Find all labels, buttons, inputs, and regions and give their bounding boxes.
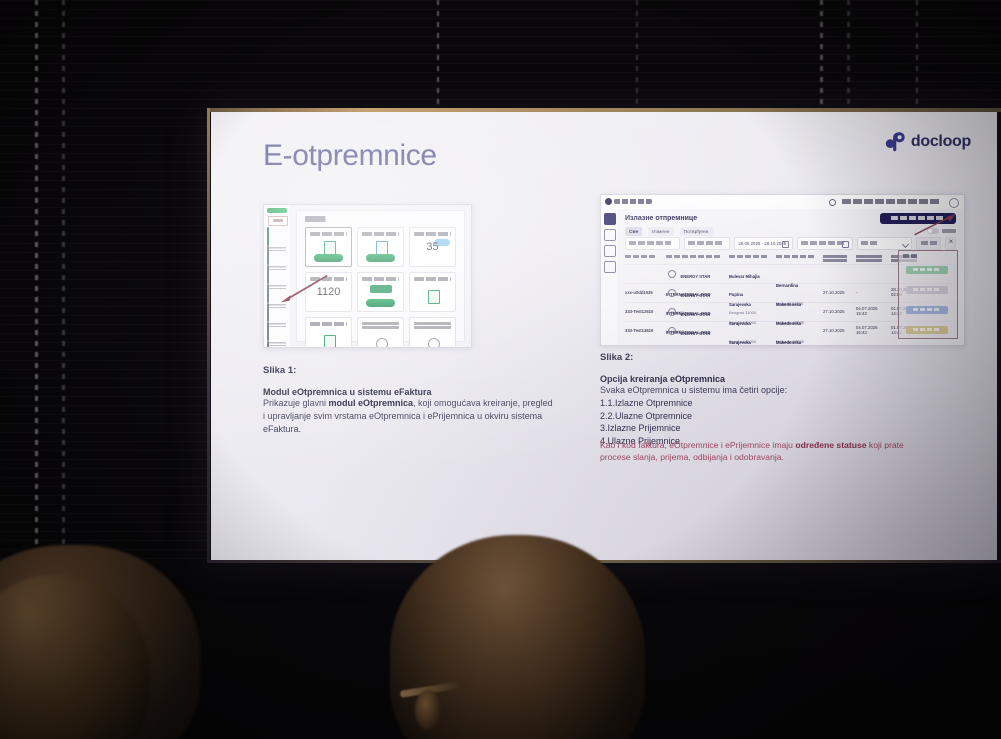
company-selector[interactable] <box>842 199 940 204</box>
left-icon-rail[interactable] <box>601 209 618 345</box>
lock-document-icon <box>324 335 336 348</box>
docloop-logo: docloop <box>885 130 971 153</box>
create-document-button[interactable] <box>314 254 343 262</box>
status-column-highlight <box>898 250 958 339</box>
caption-right-heading: Opcija kreiranja eOtpremnica <box>600 374 920 384</box>
caption-left: Slika 1: Modul eOtpremnica u sistemu eFa… <box>263 365 553 435</box>
clock-icon <box>668 289 676 297</box>
sidebar-item-pojedinacna-korekcija[interactable] <box>267 342 287 348</box>
figure-label-1: Slika 1: <box>263 365 553 376</box>
rail-icon-ulazne-otpremnice[interactable] <box>604 229 616 241</box>
cell-planned-date: 04.07.2025 15:43 <box>856 344 888 346</box>
cell-address-from: Sarajevska Beograd 11000 <box>729 331 773 346</box>
cell-planned-date: 04.07.2025 15:43 <box>856 325 888 335</box>
cell-planned-date: - <box>856 290 888 295</box>
card-value-total: 35 <box>410 241 455 253</box>
status-badge <box>906 286 948 294</box>
caption-left-body: Prikazuje glavni modul eOtpremnica, koji… <box>263 397 553 435</box>
filter-bar[interactable]: 28.05.2025 - 28.10.2025 <box>625 238 956 249</box>
table-page-title: Излазне отпремнице <box>625 215 697 222</box>
annotation-arrow-left <box>279 272 329 306</box>
status-badge <box>906 266 948 274</box>
greeting-text <box>305 216 339 222</box>
rail-icon-ulazne-prijemnice[interactable] <box>604 261 616 273</box>
refresh-icon <box>376 338 388 348</box>
presentation-screen: E-otpremnice docloop <box>207 108 1001 563</box>
card-pojedinacna-evidencija-pdv[interactable] <box>409 272 456 312</box>
col-status <box>903 254 919 258</box>
rail-icon-izlazne-otpremnice[interactable] <box>604 213 616 225</box>
sidebar-item-dokumenti[interactable] <box>267 228 287 243</box>
light-strip <box>62 0 65 560</box>
card-ukupno-dokumenata[interactable]: 35 <box>409 227 456 267</box>
clear-filters-button[interactable] <box>945 237 956 250</box>
document-icon <box>376 241 388 255</box>
rail-icon-izlazne-prijemnice[interactable] <box>604 245 616 257</box>
document-plus-icon <box>324 241 336 255</box>
app-topbar <box>601 195 964 210</box>
nef-badge <box>268 216 288 226</box>
annotation-arrow-right <box>911 212 957 238</box>
col-adresa-otpreme <box>729 254 773 262</box>
tab-potvrdjene[interactable]: Потврђене <box>680 227 713 236</box>
cell-code: 333-Test13610 <box>625 328 663 333</box>
status-select[interactable] <box>857 237 912 250</box>
cell-issue-date: 27.10.2025 <box>823 290 853 295</box>
col-planirani-datum[interactable] <box>856 254 888 262</box>
logo-text: docloop <box>911 133 971 151</box>
apply-filters-button[interactable] <box>916 237 940 250</box>
list-item: 2.2.Ulazne Otpremnice <box>600 410 920 423</box>
refresh-icon <box>267 341 269 348</box>
sidebar-item-prodaja[interactable] <box>267 247 287 262</box>
clock-icon <box>668 308 676 316</box>
card-izlazni-dokumenti[interactable] <box>305 227 352 267</box>
search-input[interactable] <box>625 237 680 250</box>
cell-actual-date: 01.07.2025 14:42 <box>891 344 923 346</box>
card-ulazni-dokumenti[interactable] <box>357 227 404 267</box>
screen-bezel-bottom <box>207 560 1001 563</box>
sidebar-item-korekcija-zbirne[interactable] <box>267 323 287 338</box>
figure-label-2: Slika 2: <box>600 352 920 363</box>
app-brand <box>605 198 652 205</box>
status-note: Kao i kod faktura, eOtpremnice i ePrijem… <box>600 439 930 464</box>
clock-icon <box>668 270 676 278</box>
cell-address-to: Makedonska Petrovac 85000 <box>776 331 820 346</box>
calendar-icon[interactable] <box>842 241 849 248</box>
col-datum-izdavanja[interactable] <box>823 254 853 262</box>
grid-icon <box>267 227 269 246</box>
clock-icon <box>668 327 676 335</box>
caption-right-subtitle: Svaka eOtpremnica u sistemu ima četiri o… <box>600 384 920 397</box>
import-invoice-button[interactable] <box>366 254 395 262</box>
slide: E-otpremnice docloop <box>211 112 997 560</box>
date-range-input[interactable]: 28.05.2025 - 28.10.2025 <box>734 237 792 250</box>
page-title: E-otpremnice <box>263 139 437 173</box>
card-zbirna-evidencija-pdv[interactable] <box>305 317 352 348</box>
status-badge <box>906 306 948 314</box>
tab-sve[interactable]: Све <box>625 227 642 236</box>
efaktura-logo <box>267 208 287 213</box>
cell-code: xxx-u0dd1035 <box>625 290 663 295</box>
list-item: 3.Izlazne Prijemnice <box>600 422 920 435</box>
card-zbirna-do-septembra[interactable] <box>409 317 456 348</box>
otpremnice-table: xxx-u0dd1035 ENERGY STAR INTERNATIONAL D… <box>625 252 956 341</box>
list-item: 1.1.Izlazne Otpremnice <box>600 397 920 410</box>
table-tabs[interactable]: Све Измене Потврђене <box>625 227 713 236</box>
light-strip <box>35 0 38 560</box>
sidebar-item-pojedinacna-evidencija[interactable] <box>267 304 287 319</box>
pdv-tag <box>370 285 392 293</box>
number-input[interactable] <box>684 237 730 250</box>
document-icon <box>267 246 269 265</box>
vat-document-icon <box>428 290 440 304</box>
delivery-date-input[interactable] <box>797 237 854 250</box>
user-avatar[interactable] <box>949 198 959 208</box>
chevron-down-icon <box>902 241 909 248</box>
stamp-icon <box>267 284 269 303</box>
col-broj-otpremnice[interactable] <box>625 254 663 262</box>
date-range-value: 28.05.2025 - 28.10.2025 <box>738 241 786 246</box>
card-evidencija-pdv[interactable] <box>357 272 404 312</box>
card-pojedinacna-do-septembra[interactable] <box>357 317 404 348</box>
refresh-icon <box>267 322 269 341</box>
refresh-icon <box>428 338 440 348</box>
ear <box>415 690 441 730</box>
document-icon <box>267 265 269 284</box>
caption-left-heading: Modul eOtpremnica u sistemu eFaktura <box>263 387 553 397</box>
cell-issue-date: 27.10.2025 <box>823 328 853 333</box>
tab-izmene[interactable]: Измене <box>648 227 673 236</box>
cell-company: ENERGY STAR INTERNATIONAL DOO 10003087 <box>666 322 726 346</box>
cell-planned-date: 04.07.2025 15:43 <box>856 306 888 316</box>
docloop-mark-icon <box>605 198 612 205</box>
status-badge <box>906 326 948 334</box>
calendar-icon[interactable] <box>782 241 789 248</box>
enter-vat-button[interactable] <box>366 299 395 307</box>
caption-right: Slika 2: Opcija kreiranja eOtpremnica Sv… <box>600 352 920 448</box>
loop-d-icon <box>885 130 906 153</box>
cell-issue-date: 27.10.2025 <box>823 309 853 314</box>
screen-bezel-left <box>207 108 210 563</box>
screenshot-stage: E-otpremnice docloop <box>0 0 1001 739</box>
search-icon[interactable] <box>829 199 836 206</box>
col-adresa-odredista <box>776 254 820 262</box>
printer-icon <box>267 303 269 322</box>
cell-code: 333-Test12610 <box>625 309 663 314</box>
col-primalac-robe[interactable] <box>666 254 726 262</box>
